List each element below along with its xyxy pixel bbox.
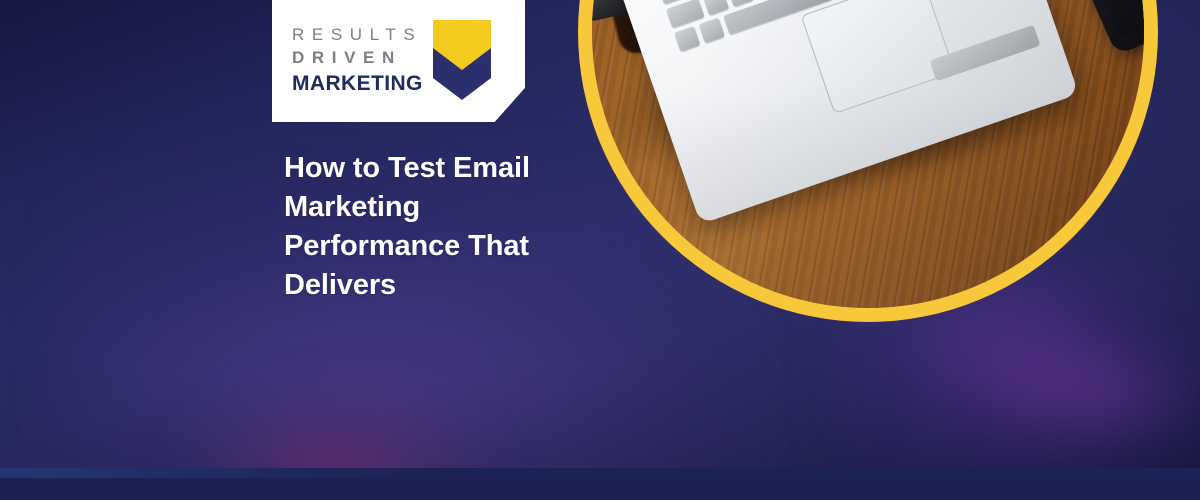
bottom-band-highlight xyxy=(0,468,430,478)
brand-logo: RESULTS DRIVEN MARKETING xyxy=(292,24,491,112)
brand-logo-card[interactable]: RESULTS DRIVEN MARKETING xyxy=(272,0,525,122)
hero-photo-circle xyxy=(578,0,1158,322)
photo-clip-area xyxy=(592,0,1144,308)
desk-scene xyxy=(592,0,1144,308)
logo-line-results: RESULTS xyxy=(292,24,423,47)
logo-line-driven: DRIVEN xyxy=(292,47,423,70)
page-title: How to Test Email Marketing Performance … xyxy=(284,149,602,305)
logo-line-marketing: MARKETING xyxy=(292,70,423,97)
blog-hero-banner: RESULTS DRIVEN MARKETING How to Test Ema… xyxy=(0,0,1200,500)
brand-logo-wordmark: RESULTS DRIVEN MARKETING xyxy=(292,24,423,97)
double-chevron-icon xyxy=(433,20,491,112)
photo-overlay xyxy=(592,0,1144,308)
